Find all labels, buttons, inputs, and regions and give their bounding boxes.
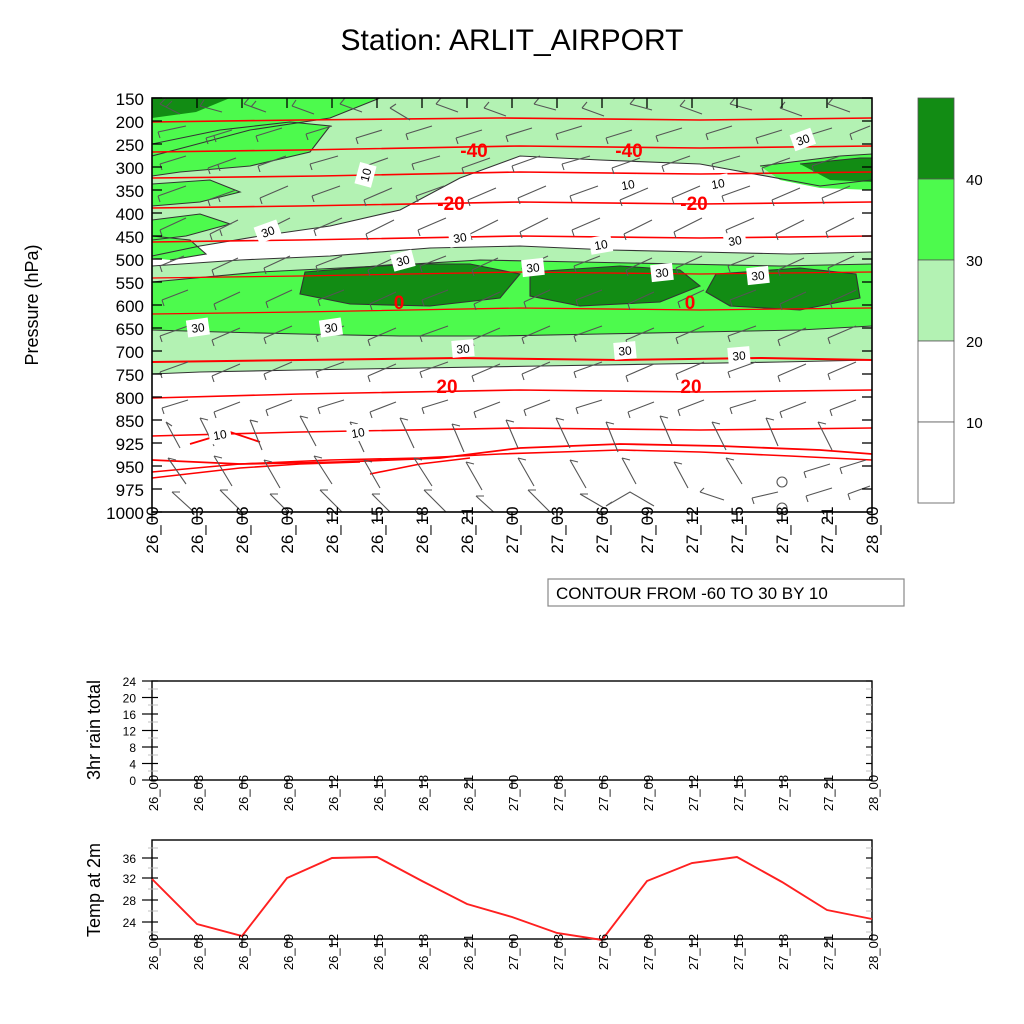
isotherm-label: -40: [460, 141, 487, 162]
colorbar-band: [918, 179, 954, 260]
isotherm-label: 0: [394, 293, 405, 314]
xtick-label: 26_06: [236, 934, 251, 970]
ytick-label: 950: [116, 458, 144, 477]
ytick-label: 350: [116, 182, 144, 201]
colorbar-band: [918, 341, 954, 422]
isotherm-label: -40: [615, 141, 642, 162]
main-sounding-panel: 30 10 10 10 10 30: [0, 60, 1024, 680]
colorbar-tick-label: 10: [966, 415, 983, 432]
xtick-label: 27_12: [686, 934, 701, 970]
rain-y-axis-title: 3hr rain total: [84, 680, 104, 780]
xtick-label: 26_21: [461, 775, 476, 811]
isotherm-label: -20: [437, 194, 464, 215]
ytick-label: 0: [129, 774, 136, 788]
ytick-label: 200: [116, 113, 144, 132]
xtick-label: 26_09: [281, 934, 296, 970]
ytick-label: 36: [123, 852, 137, 866]
contour-label: 10: [620, 177, 636, 193]
main-ytick-labels: 150 200 250 300 350 400 450 500 550 600 …: [106, 90, 144, 523]
xtick-label: 27_09: [638, 506, 657, 553]
xtick-label: 26_15: [371, 934, 386, 970]
contour-label: 30: [323, 320, 338, 336]
contour-label: 30: [452, 230, 468, 246]
ytick-label: 24: [123, 916, 137, 930]
xtick-label: 27_03: [551, 775, 566, 811]
xtick-label: 26_03: [188, 506, 207, 553]
xtick-label: 26_15: [371, 775, 386, 811]
ytick-label: 700: [116, 343, 144, 362]
xtick-label: 27_00: [506, 934, 521, 970]
ytick-label: 150: [116, 90, 144, 109]
ytick-label: 4: [129, 758, 136, 772]
xtick-label: 26_09: [281, 775, 296, 811]
ytick-label: 300: [116, 159, 144, 178]
xtick-label: 26_03: [191, 934, 206, 970]
ytick-label: 800: [116, 389, 144, 408]
temp-panel: 36 32 28 24 Temp at 2m 26_00 26_03 26_06…: [0, 835, 1024, 995]
colorbar-band: [918, 98, 954, 179]
xtick-label: 27_03: [551, 934, 566, 970]
ytick-label: 450: [116, 228, 144, 247]
ytick-label: 925: [116, 435, 144, 454]
temp-plot-frame: [152, 840, 872, 939]
ytick-label: 28: [123, 894, 137, 908]
isotherm-label: 20: [436, 377, 457, 398]
contour-label: 30: [526, 260, 541, 275]
contour-label: 10: [710, 176, 726, 192]
contour-label: 30: [655, 265, 670, 280]
xtick-label: 27_06: [593, 506, 612, 553]
ytick-label: 650: [116, 320, 144, 339]
xtick-label: 27_00: [503, 506, 522, 553]
xtick-label: 27_15: [728, 506, 747, 553]
contour-label: 10: [212, 427, 228, 443]
ytick-label: 32: [123, 872, 137, 886]
ytick-label: 12: [123, 725, 137, 739]
xtick-label: 26_21: [458, 506, 477, 553]
xtick-label: 27_21: [818, 506, 837, 553]
xtick-label: 28_00: [866, 775, 881, 811]
xtick-label: 28_00: [866, 934, 881, 970]
colorbar-band: [918, 422, 954, 503]
main-y-axis-title: Pressure (hPa): [22, 244, 42, 365]
ytick-label: 400: [116, 205, 144, 224]
ytick-label: 550: [116, 274, 144, 293]
contour-label: 30: [732, 348, 747, 363]
xtick-label: 27_06: [596, 775, 611, 811]
main-xtick-labels: 26_00 26_03 26_06 26_09 26_12 26_15 26_1…: [143, 506, 882, 553]
ytick-label: 1000: [106, 504, 144, 523]
xtick-label: 27_21: [821, 934, 836, 970]
colorbar: 40 30 20 10: [918, 98, 983, 503]
xtick-label: 26_12: [326, 934, 341, 970]
contour-label: 30: [456, 341, 471, 356]
xtick-label: 27_15: [731, 775, 746, 811]
xtick-label: 28_00: [863, 506, 882, 553]
xtick-label: 27_09: [641, 775, 656, 811]
isotherm-label: 0: [685, 293, 696, 314]
contour-label: 30: [190, 320, 205, 336]
contour-label: 10: [593, 237, 609, 253]
ytick-label: 600: [116, 297, 144, 316]
xtick-label: 27_15: [731, 934, 746, 970]
colorbar-tick-label: 40: [966, 172, 983, 189]
xtick-label: 27_00: [506, 775, 521, 811]
ytick-label: 20: [123, 692, 137, 706]
isotherm-label: 20: [680, 377, 701, 398]
xtick-label: 26_00: [143, 506, 162, 553]
temp-ytick-labels: 36 32 28 24: [123, 852, 137, 930]
xtick-label: 26_21: [461, 934, 476, 970]
xtick-label: 27_18: [776, 775, 791, 811]
rain-ytick-labels: 24 20 16 12 8 4 0: [123, 675, 137, 788]
xtick-label: 27_03: [548, 506, 567, 553]
ytick-label: 975: [116, 481, 144, 500]
page-title: Station: ARLIT_AIRPORT: [0, 24, 1024, 58]
ytick-label: 250: [116, 136, 144, 155]
colorbar-tick-label: 20: [966, 334, 983, 351]
xtick-label: 26_06: [236, 775, 251, 811]
xtick-label: 26_03: [191, 775, 206, 811]
contour-caption: CONTOUR FROM -60 TO 30 BY 10: [548, 579, 904, 606]
xtick-label: 26_12: [326, 775, 341, 811]
ytick-label: 750: [116, 366, 144, 385]
colorbar-tick-label: 30: [966, 253, 983, 270]
xtick-label: 26_09: [278, 506, 297, 553]
xtick-label: 27_18: [773, 506, 792, 553]
contour-label: 30: [727, 233, 743, 249]
xtick-label: 27_21: [821, 775, 836, 811]
chart-page: Station: ARLIT_AIRPORT: [0, 0, 1024, 1024]
xtick-label: 26_18: [413, 506, 432, 553]
xtick-label: 26_18: [416, 775, 431, 811]
xtick-label: 26_00: [146, 934, 161, 970]
temp-y-axis-title: Temp at 2m: [84, 843, 104, 937]
contour-label: 30: [751, 268, 766, 283]
colorbar-band: [918, 260, 954, 341]
ytick-label: 24: [123, 675, 137, 689]
xtick-label: 27_12: [686, 775, 701, 811]
xtick-label: 27_12: [683, 506, 702, 553]
xtick-label: 26_00: [146, 775, 161, 811]
xtick-label: 26_12: [323, 506, 342, 553]
xtick-label: 26_18: [416, 934, 431, 970]
contour-label: 30: [618, 343, 633, 358]
rain-plot-frame: [152, 681, 872, 780]
ytick-label: 16: [123, 708, 137, 722]
isotherm-label: -20: [680, 194, 707, 215]
ytick-label: 850: [116, 412, 144, 431]
contour-label: 10: [350, 425, 366, 441]
xtick-label: 27_09: [641, 934, 656, 970]
contour-caption-text: CONTOUR FROM -60 TO 30 BY 10: [556, 584, 828, 603]
ytick-label: 500: [116, 251, 144, 270]
xtick-label: 27_18: [776, 934, 791, 970]
ytick-label: 8: [129, 741, 136, 755]
xtick-label: 26_06: [233, 506, 252, 553]
rain-panel: 24 20 16 12 8 4 0 3hr rain total 26_00 2…: [0, 655, 1024, 825]
xtick-label: 26_15: [368, 506, 387, 553]
xtick-label: 27_06: [596, 934, 611, 970]
